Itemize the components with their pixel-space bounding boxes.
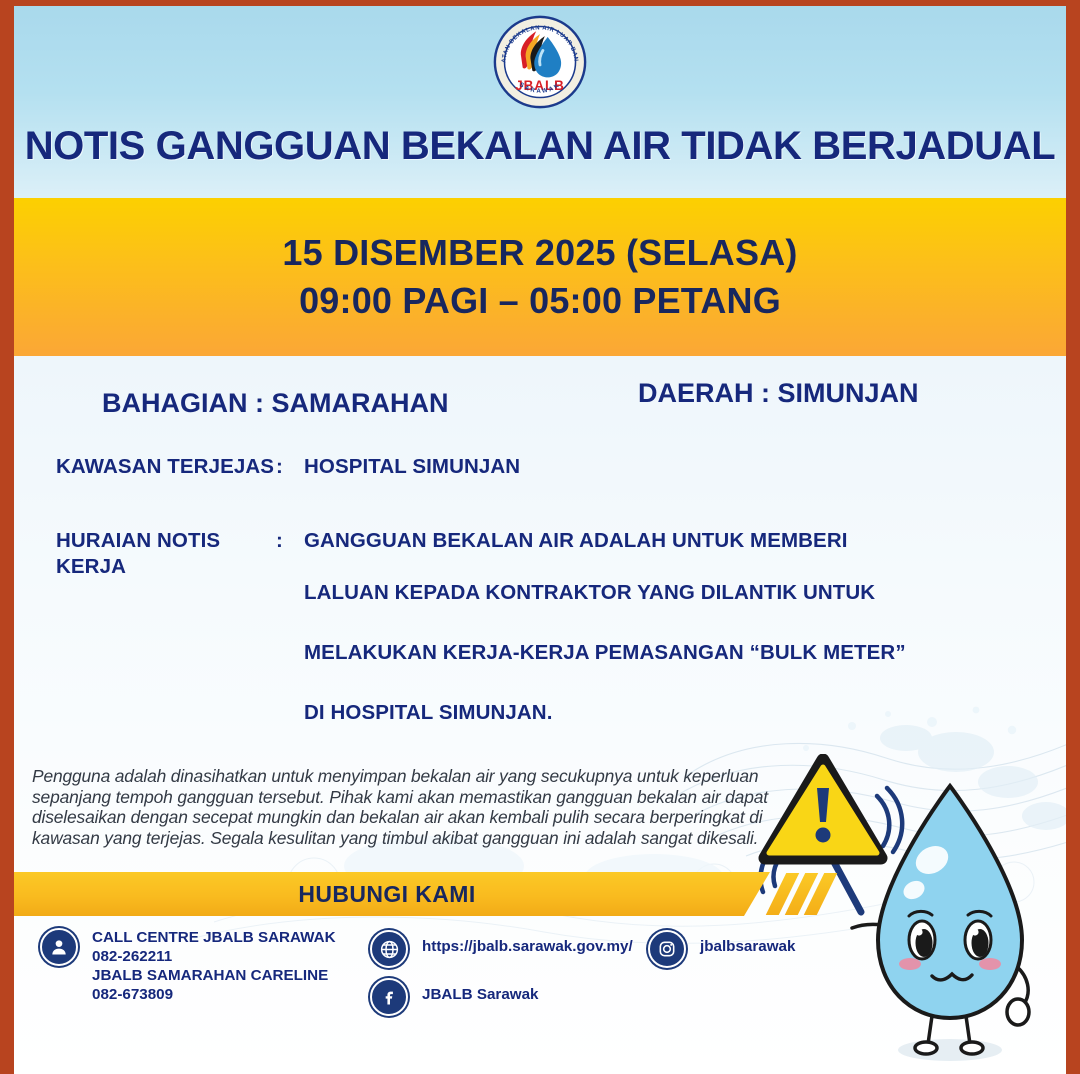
contact-instagram[interactable]: jbalbsarawak (648, 930, 795, 968)
work-description-label: HURAIAN NOTIS KERJA (14, 528, 276, 751)
contact-banner-label: HUBUNGI KAMI (298, 881, 485, 908)
page-title: NOTIS GANGGUAN BEKALAN AIR TIDAK BERJADU… (14, 124, 1066, 169)
facebook-handle: JBALB Sarawak (422, 978, 539, 1004)
work-description-line-1: GANGGUAN BEKALAN AIR ADALAH UNTUK MEMBER… (304, 528, 906, 554)
district-label: DAERAH : SIMUNJAN (638, 378, 919, 409)
contact-banner: HUBUNGI KAMI (14, 872, 814, 916)
affected-area-label: KAWASAN TERJEJAS (14, 454, 276, 480)
water-disruption-notice-poster: JBALB JABATAN BEKALAN AIR LUAR BANDAR SA… (0, 0, 1080, 1074)
affected-area-value: HOSPITAL SIMUNJAN (304, 454, 520, 480)
work-description-row: HURAIAN NOTIS KERJA : GANGGUAN BEKALAN A… (14, 528, 1066, 751)
call-centre-number: 082-262211 (92, 947, 336, 966)
globe-icon (370, 930, 408, 968)
date-time-banner: 15 DISEMBER 2025 (SELASA) 09:00 PAGI – 0… (14, 198, 1066, 356)
work-description-line-3: MELAKUKAN KERJA-KERJA PEMASANGAN “BULK M… (304, 631, 906, 674)
instagram-handle: jbalbsarawak (700, 930, 795, 956)
disclaimer-text: Pengguna adalah dinasihatkan untuk menyi… (32, 766, 792, 848)
poster-header: JBALB JABATAN BEKALAN AIR LUAR BANDAR SA… (14, 6, 1066, 198)
person-icon (40, 928, 78, 966)
contact-banner-bar: HUBUNGI KAMI (14, 872, 770, 916)
affected-area-colon: : (276, 454, 304, 480)
contact-facebook[interactable]: JBALB Sarawak (370, 978, 539, 1016)
affected-area-row: KAWASAN TERJEJAS : HOSPITAL SIMUNJAN (14, 454, 1066, 480)
region-row: BAHAGIAN : SAMARAHAN DAERAH : SIMUNJAN (14, 356, 1066, 442)
work-description-line-2: LALUAN KEPADA KONTRAKTOR YANG DILANTIK U… (304, 571, 906, 614)
careline-title: JBALB SAMARAHAN CARELINE (92, 966, 336, 985)
careline-number: 082-673809 (92, 985, 336, 1004)
facebook-icon (370, 978, 408, 1016)
contact-call-centre[interactable]: CALL CENTRE JBALB SARAWAK 082-262211 JBA… (40, 928, 336, 1004)
instagram-icon (648, 930, 686, 968)
call-centre-text-block: CALL CENTRE JBALB SARAWAK 082-262211 JBA… (92, 928, 336, 1004)
contact-website[interactable]: https://jbalb.sarawak.gov.my/ (370, 930, 633, 968)
notice-date: 15 DISEMBER 2025 (SELASA) (282, 232, 797, 274)
notice-time: 09:00 PAGI – 05:00 PETANG (299, 280, 781, 322)
division-label: BAHAGIAN : SAMARAHAN (102, 388, 448, 419)
website-url: https://jbalb.sarawak.gov.my/ (422, 930, 633, 956)
jbalb-logo-icon: JBALB JABATAN BEKALAN AIR LUAR BANDAR SA… (492, 14, 588, 110)
call-centre-title: CALL CENTRE JBALB SARAWAK (92, 928, 336, 947)
work-description-value: GANGGUAN BEKALAN AIR ADALAH UNTUK MEMBER… (304, 528, 906, 751)
work-description-colon: : (276, 528, 304, 751)
work-description-line-4: DI HOSPITAL SIMUNJAN. (304, 691, 906, 734)
water-droplet-mascot (846, 768, 1060, 1068)
notice-details-table: KAWASAN TERJEJAS : HOSPITAL SIMUNJAN HUR… (14, 454, 1066, 751)
poster-body: BAHAGIAN : SAMARAHAN DAERAH : SIMUNJAN K… (14, 356, 1066, 1074)
